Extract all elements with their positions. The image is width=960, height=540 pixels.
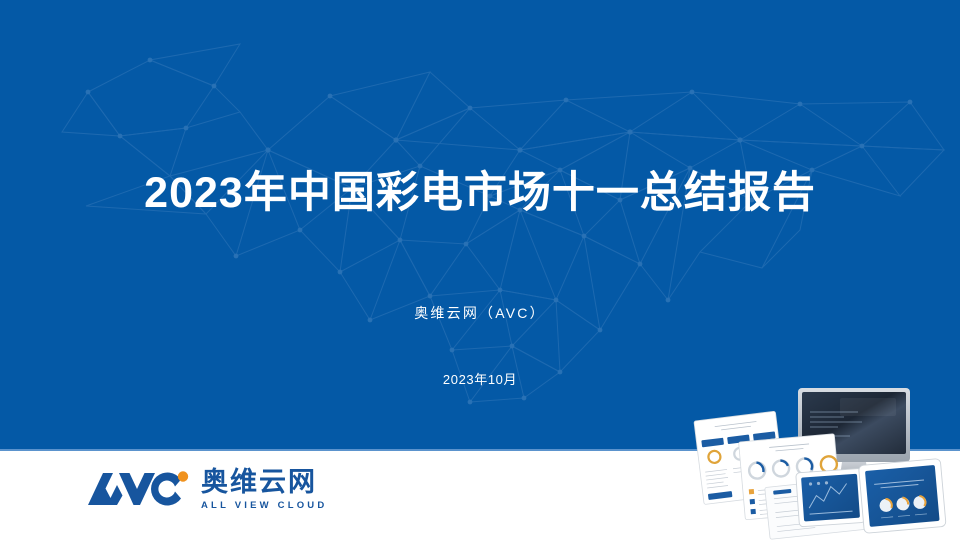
logo-wordmark: 奥维云网 ALL VIEW CLOUD	[201, 465, 327, 512]
avc-logo: 奥维云网 ALL VIEW CLOUD	[86, 465, 327, 512]
publication-date: 2023年10月	[0, 371, 960, 389]
avc-monogram-icon	[86, 465, 192, 509]
subtitle-organization: 奥维云网（AVC）	[0, 303, 960, 323]
footer-bar: 奥维云网 ALL VIEW CLOUD	[0, 451, 960, 540]
slide-cover: 2023年中国彩电市场十一总结报告 奥维云网（AVC） 2023年10月 奥维云…	[0, 0, 960, 540]
page-title: 2023年中国彩电市场十一总结报告	[0, 166, 960, 220]
logo-company-en: ALL VIEW CLOUD	[201, 499, 327, 512]
logo-company-cn: 奥维云网	[201, 467, 327, 497]
